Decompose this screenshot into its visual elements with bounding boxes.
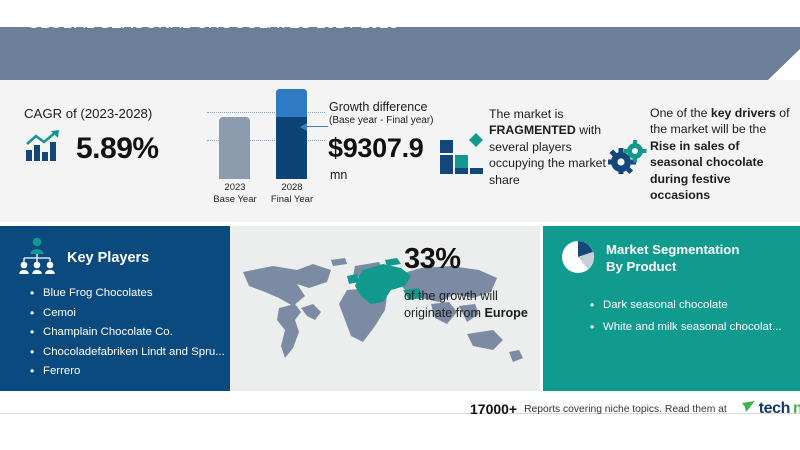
footer-content: 17000+ Reports covering niche topics. Re… xyxy=(470,400,800,418)
region-line1: of the growth will xyxy=(404,289,498,303)
technavio-arrow-icon xyxy=(742,400,756,418)
fragmented-description: The market is FRAGMENTED with several pl… xyxy=(489,106,607,188)
bar-label-final-year: 2028 Final Year xyxy=(257,182,327,205)
org-chart-people-icon xyxy=(17,236,57,279)
region-line2: originate from xyxy=(404,306,481,320)
fragmented-line1: The market is xyxy=(489,107,563,121)
pie-chart-icon xyxy=(561,240,595,279)
driver-bold1: key drivers xyxy=(711,106,776,120)
driver-line1: One of the xyxy=(650,106,707,120)
logo-text-navio: navio xyxy=(793,400,800,418)
bar-final-year-caption: Final Year xyxy=(271,194,313,205)
growth-difference-unit: mn xyxy=(330,168,347,182)
key-players-panel: Key Players Blue Frog Chocolates Cemoi C… xyxy=(0,226,230,391)
infographic-page: GLOBAL SEASONAL CHOCOLATES 2024-2028 CAG… xyxy=(0,0,800,450)
bar-final-year xyxy=(276,89,307,179)
segmentation-title: Market Segmentation By Product xyxy=(606,240,756,275)
growth-difference-subtitle: (Base year - Final year) xyxy=(329,115,433,126)
footer-tagline: Reports covering niche topics. Read them… xyxy=(524,404,727,415)
bar-chart-growth-icon xyxy=(24,130,64,167)
bar-growth-segment xyxy=(276,89,307,117)
key-players-title: Key Players xyxy=(67,250,149,266)
chart-gridline-top xyxy=(207,112,325,113)
fragmented-bold: FRAGMENTED xyxy=(489,123,576,137)
gears-icon xyxy=(608,140,648,174)
growth-callout-arrow-icon xyxy=(300,122,328,131)
bar-base-year-value: 2023 xyxy=(224,182,245,193)
fragmented-squares-icon xyxy=(439,131,485,175)
page-title: GLOBAL SEASONAL CHOCOLATES 2024-2028 xyxy=(27,14,398,33)
report-count: 17000+ xyxy=(470,401,517,417)
segmentation-list: Dark seasonal chocolate White and milk s… xyxy=(590,294,795,338)
key-players-list: Blue Frog Chocolates Cemoi Champlain Cho… xyxy=(30,284,240,382)
key-players-header: Key Players xyxy=(17,236,149,279)
bar-base-year xyxy=(219,117,250,179)
bar-final-year-value: 2028 xyxy=(281,182,302,193)
list-item: Dark seasonal chocolate xyxy=(590,294,795,316)
bar-base-year-caption: Base Year xyxy=(213,194,256,205)
cagr-row: 5.89% xyxy=(24,130,159,167)
driver-bold2: Rise in sales of seasonal chocolate duri… xyxy=(650,139,763,202)
list-item: Cemoi xyxy=(30,304,240,324)
growth-difference-title: Growth difference xyxy=(329,100,427,114)
region-description: of the growth will originate from Europe xyxy=(404,288,534,322)
list-item: Champlain Chocolate Co. xyxy=(30,323,240,343)
segmentation-header: Market Segmentation By Product xyxy=(561,240,756,279)
cagr-label: CAGR of (2023-2028) xyxy=(24,106,152,121)
cagr-value: 5.89% xyxy=(76,132,159,166)
technavio-logo[interactable]: tech navio ® xyxy=(742,400,800,418)
list-item: White and milk seasonal chocolat... xyxy=(590,316,795,338)
region-highlight: Europe xyxy=(485,306,528,320)
market-segmentation-panel: Market Segmentation By Product Dark seas… xyxy=(543,226,800,391)
list-item: Blue Frog Chocolates xyxy=(30,284,240,304)
growth-bar-chart: 2023 Base Year 2028 Final Year xyxy=(207,100,322,205)
region-growth-stat: 33% xyxy=(404,243,461,276)
header-bar xyxy=(0,27,800,80)
key-driver-description: One of the key drivers of the market wil… xyxy=(650,105,792,203)
growth-difference-value: $9307.9 xyxy=(328,133,424,164)
logo-text-tech: tech xyxy=(759,400,790,418)
list-item: Ferrero xyxy=(30,362,240,382)
list-item: Chocoladefabriken Lindt and Spru... xyxy=(30,343,240,363)
region-percent: 33% xyxy=(404,243,461,275)
